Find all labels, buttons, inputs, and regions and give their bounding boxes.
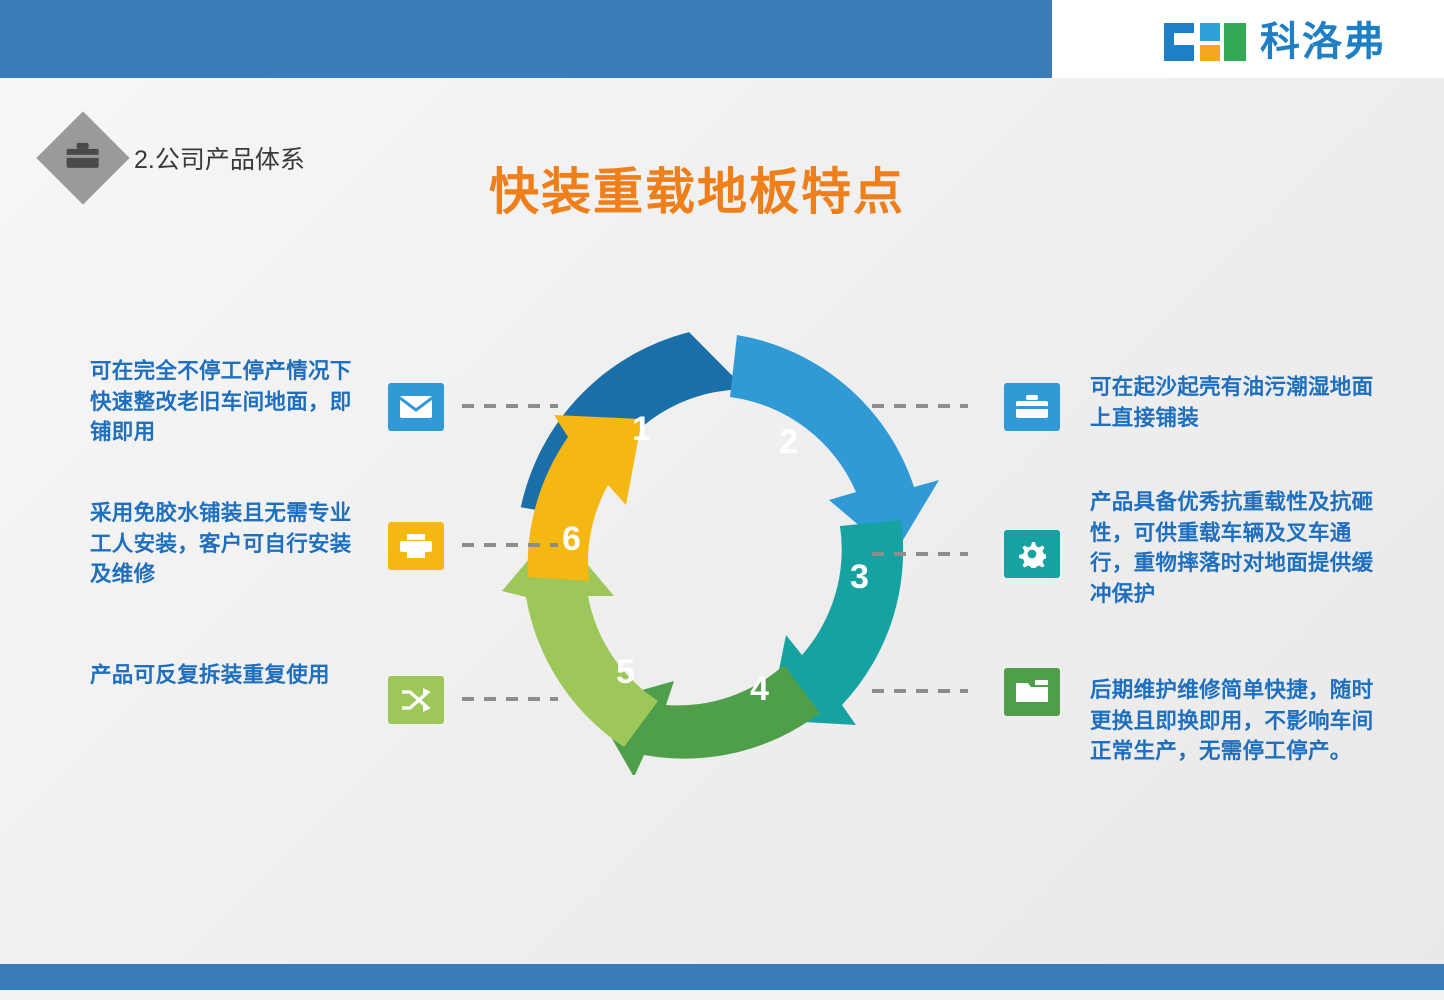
left-item-3: 产品可反复拆装重复使用 (90, 660, 368, 691)
right-item-2: 产品具备优秀抗重载性及抗砸性，可供重载车辆及叉车通行，重物摔落时对地面提供缓冲保… (1090, 487, 1380, 609)
cycle-segment-6 (528, 415, 642, 581)
briefcase-icon (66, 142, 100, 175)
page-title: 快装重载地板特点 (489, 152, 905, 224)
section-tag-label: 2.公司产品体系 (134, 140, 305, 176)
printer-icon (388, 522, 444, 570)
connector-dots-left-3 (462, 697, 558, 701)
cycle-number-3: 3 (850, 558, 869, 597)
logo-text: 科洛弗 (1260, 22, 1386, 62)
bottom-edge-strip (0, 990, 1444, 1000)
connector-dots-right-1 (872, 404, 968, 408)
left-item-2: 采用免胶水铺装且无需专业工人安装，客户可自行安装及维修 (90, 498, 368, 590)
brand-logo: 科洛弗 (1164, 18, 1386, 66)
left-item-1-text: 可在完全不停工停产情况下快速整改老旧车间地面，即铺即用 (90, 356, 368, 448)
cycle-segment-2 (730, 335, 939, 555)
left-item-2-text: 采用免胶水铺装且无需专业工人安装，客户可自行安装及维修 (90, 498, 368, 590)
slide-canvas: 科洛弗 2.公司产品体系 快装重载地板特点 (0, 0, 1444, 1000)
right-item-1: 可在起沙起壳有油污潮湿地面上直接铺装 (1090, 372, 1380, 433)
cycle-number-4: 4 (750, 670, 769, 709)
cycle-number-5: 5 (616, 653, 635, 692)
folder-icon (1004, 668, 1060, 716)
top-blue-bar (0, 0, 1052, 78)
logo-mark-icon (1164, 19, 1246, 65)
section-tag: 2.公司产品体系 (50, 125, 305, 191)
left-item-3-text: 产品可反复拆装重复使用 (90, 660, 368, 691)
cycle-number-6: 6 (562, 520, 581, 559)
connector-dots-left-2 (462, 543, 558, 547)
right-item-2-text: 产品具备优秀抗重载性及抗砸性，可供重载车辆及叉车通行，重物摔落时对地面提供缓冲保… (1090, 487, 1380, 609)
envelope-icon (388, 383, 444, 431)
right-item-3-text: 后期维护维修简单快捷，随时更换且即换即用，不影响车间正常生产，无需停工停产。 (1090, 675, 1380, 767)
left-item-1: 可在完全不停工停产情况下快速整改老旧车间地面，即铺即用 (90, 356, 368, 448)
shuffle-icon (388, 676, 444, 724)
gear-icon (1004, 530, 1060, 578)
connector-dots-left-1 (462, 404, 558, 408)
right-item-3: 后期维护维修简单快捷，随时更换且即换即用，不影响车间正常生产，无需停工停产。 (1090, 675, 1380, 767)
connector-dots-right-3 (872, 689, 968, 693)
briefcase-icon (1004, 383, 1060, 431)
section-diamond (36, 111, 129, 204)
cycle-number-1: 1 (632, 410, 651, 449)
right-item-1-text: 可在起沙起壳有油污潮湿地面上直接铺装 (1090, 372, 1380, 433)
cycle-number-2: 2 (779, 423, 798, 462)
connector-dots-right-2 (872, 552, 968, 556)
